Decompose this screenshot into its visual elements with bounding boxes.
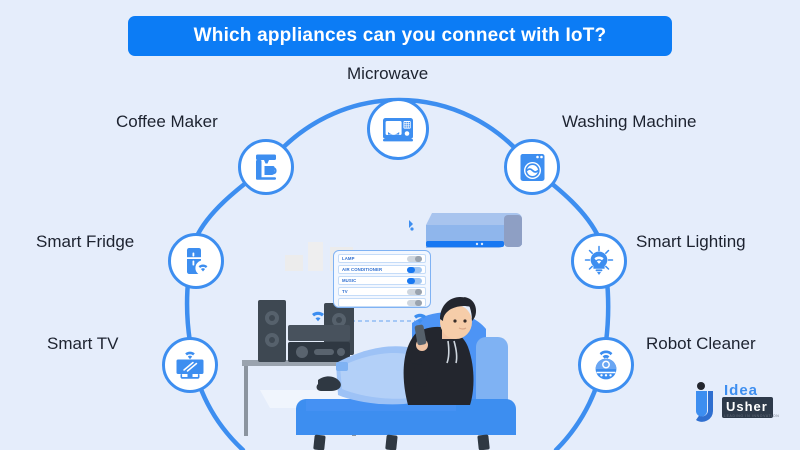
label-washing-machine: Washing Machine	[562, 112, 697, 132]
logo-u-mark	[690, 380, 724, 424]
label-smart-fridge: Smart Fridge	[36, 232, 134, 252]
control-row-toggle[interactable]	[407, 278, 422, 284]
robot-cleaner-icon	[590, 350, 622, 380]
stereo-wifi-icon	[312, 312, 324, 321]
label-robot-cleaner: Robot Cleaner	[646, 334, 756, 354]
node-smart-lighting[interactable]	[571, 233, 627, 289]
smart-lighting-icon	[583, 245, 615, 277]
logo-tagline: LEADING IN INNOVATION	[724, 414, 779, 418]
control-row-3[interactable]: TV	[338, 287, 426, 296]
ac-signal-icon	[409, 220, 414, 231]
node-microwave[interactable]	[367, 98, 429, 160]
smart-tv-icon	[174, 350, 206, 380]
living-room-illustration	[240, 185, 570, 450]
control-row-toggle[interactable]	[407, 289, 422, 295]
air-conditioner-unit	[426, 213, 522, 248]
control-row-2[interactable]: MUSIC	[338, 276, 426, 285]
node-coffee-maker[interactable]	[238, 139, 294, 195]
control-row-label: TV	[342, 290, 348, 294]
stereo-system	[288, 325, 350, 362]
control-row-label: MUSIC	[342, 279, 356, 283]
control-row-toggle[interactable]	[407, 300, 422, 306]
control-row-toggle[interactable]	[407, 267, 422, 273]
node-smart-fridge[interactable]	[168, 233, 224, 289]
smart-fridge-icon	[181, 246, 211, 276]
control-row-0[interactable]: LAMP	[338, 254, 426, 263]
washing-machine-icon	[517, 152, 548, 183]
label-coffee-maker: Coffee Maker	[116, 112, 218, 132]
control-row-label: LAMP	[342, 257, 355, 261]
control-row-4[interactable]	[338, 298, 426, 307]
label-microwave: Microwave	[347, 64, 428, 84]
logo-usher-text: Usher	[726, 399, 768, 414]
control-row-toggle[interactable]	[407, 256, 422, 262]
coffee-maker-icon	[251, 152, 281, 182]
microwave-icon	[381, 112, 415, 146]
infographic-canvas: Which appliances can you connect with Io…	[0, 0, 800, 450]
control-row-label: AIR CONDITIONER	[342, 268, 382, 272]
label-smart-lighting: Smart Lighting	[636, 232, 746, 252]
brand-logo[interactable]: Idea Usher LEADING IN INNOVATION	[690, 380, 786, 428]
control-row-1[interactable]: AIR CONDITIONER	[338, 265, 426, 274]
smart-home-control-panel[interactable]: LAMP AIR CONDITIONER MUSIC TV	[333, 250, 431, 308]
node-washing-machine[interactable]	[504, 139, 560, 195]
label-smart-tv: Smart TV	[47, 334, 118, 354]
node-smart-tv[interactable]	[162, 337, 218, 393]
node-robot-cleaner[interactable]	[578, 337, 634, 393]
